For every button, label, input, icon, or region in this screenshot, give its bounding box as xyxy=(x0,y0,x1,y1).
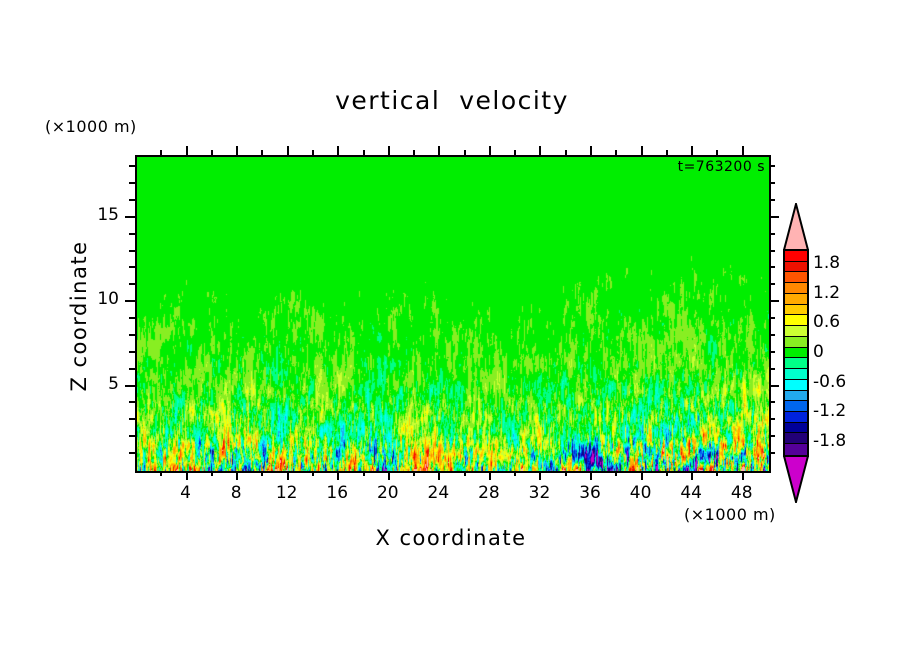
colorbar-under-arrow xyxy=(783,455,809,503)
y-axis-units-label: (×1000 m) xyxy=(45,117,137,136)
y-tick-right xyxy=(769,452,775,454)
x-tick-top xyxy=(742,146,744,155)
x-tick-label: 8 xyxy=(213,483,259,503)
colorbar-band xyxy=(785,337,807,348)
colorbar-band xyxy=(785,380,807,391)
x-tick-top xyxy=(363,150,365,155)
colorbar-tick-label: 1.2 xyxy=(813,283,840,303)
y-tick xyxy=(129,165,135,167)
y-tick xyxy=(129,418,135,420)
y-tick xyxy=(129,317,135,319)
x-tick-top xyxy=(464,150,466,155)
y-tick xyxy=(129,351,135,353)
x-tick xyxy=(438,471,440,480)
x-tick-top xyxy=(539,146,541,155)
y-tick xyxy=(129,452,135,454)
colorbar-over-arrow xyxy=(783,203,809,251)
y-tick xyxy=(129,199,135,201)
y-tick-right xyxy=(769,334,775,336)
y-tick-right xyxy=(769,165,775,167)
x-tick-top xyxy=(590,146,592,155)
y-tick-right xyxy=(769,199,775,201)
colorbar-band xyxy=(785,369,807,380)
x-tick-top xyxy=(236,146,238,155)
colorbar-band xyxy=(785,348,807,359)
x-axis-units-label: (×1000 m) xyxy=(684,505,776,524)
x-tick xyxy=(312,471,314,476)
x-tick-top xyxy=(565,150,567,155)
x-tick-label: 32 xyxy=(516,483,562,503)
y-tick-right xyxy=(769,266,775,268)
x-tick-top xyxy=(261,150,263,155)
x-tick xyxy=(337,471,339,480)
y-tick xyxy=(129,435,135,437)
colorbar-band xyxy=(785,262,807,273)
y-tick-right xyxy=(769,385,779,387)
y-tick-right xyxy=(769,283,775,285)
colorbar-band xyxy=(785,391,807,402)
colorbar-band xyxy=(785,283,807,294)
x-tick-top xyxy=(388,146,390,155)
x-tick xyxy=(363,471,365,476)
x-tick xyxy=(261,471,263,476)
x-tick-top xyxy=(160,150,162,155)
y-tick xyxy=(125,385,135,387)
y-tick xyxy=(129,250,135,252)
x-tick-label: 24 xyxy=(415,483,461,503)
x-tick xyxy=(211,471,213,476)
x-tick-top xyxy=(438,146,440,155)
x-tick-top xyxy=(287,146,289,155)
colorbar: 1.81.20.60-0.6-1.2-1.8 xyxy=(783,203,809,503)
x-tick-label: 16 xyxy=(314,483,360,503)
colorbar-band xyxy=(785,433,807,444)
y-tick xyxy=(129,334,135,336)
x-tick-top xyxy=(312,150,314,155)
x-tick-label: 40 xyxy=(618,483,664,503)
x-tick-top xyxy=(211,150,213,155)
y-tick-right xyxy=(769,216,779,218)
x-tick xyxy=(716,471,718,476)
x-tick xyxy=(236,471,238,480)
x-tick xyxy=(160,471,162,476)
y-tick-right xyxy=(769,435,775,437)
x-axis-title: X coordinate xyxy=(135,526,767,550)
x-tick xyxy=(691,471,693,480)
y-tick-right xyxy=(769,317,775,319)
y-tick-right xyxy=(769,401,775,403)
colorbar-band xyxy=(785,358,807,369)
x-tick-label: 28 xyxy=(466,483,512,503)
x-tick xyxy=(388,471,390,480)
colorbar-band xyxy=(785,444,807,455)
colorbar-band xyxy=(785,272,807,283)
x-tick xyxy=(666,471,668,476)
x-tick-label: 48 xyxy=(719,483,765,503)
x-tick xyxy=(464,471,466,476)
x-tick xyxy=(287,471,289,480)
x-tick xyxy=(565,471,567,476)
y-tick xyxy=(129,368,135,370)
x-tick xyxy=(186,471,188,480)
y-tick xyxy=(125,300,135,302)
colorbar-band xyxy=(785,401,807,412)
x-tick xyxy=(539,471,541,480)
y-tick-label: 10 xyxy=(79,289,119,309)
y-tick-right xyxy=(769,233,775,235)
x-tick-label: 20 xyxy=(365,483,411,503)
colorbar-band xyxy=(785,305,807,316)
x-tick xyxy=(514,471,516,476)
x-tick-top xyxy=(514,150,516,155)
y-tick-right xyxy=(769,182,775,184)
y-tick-right xyxy=(769,351,775,353)
x-tick-label: 12 xyxy=(264,483,310,503)
page-title: vertical velocity xyxy=(0,86,904,115)
x-tick-top xyxy=(666,150,668,155)
colorbar-tick-label: 0 xyxy=(813,342,824,362)
colorbar-band xyxy=(785,251,807,262)
x-tick xyxy=(742,471,744,480)
colorbar-tick-label: 0.6 xyxy=(813,312,840,332)
colorbar-tick-label: -0.6 xyxy=(813,372,846,392)
y-tick-right xyxy=(769,250,775,252)
velocity-field-heatmap xyxy=(137,157,769,471)
x-tick-top xyxy=(413,150,415,155)
colorbar-band xyxy=(785,423,807,434)
y-tick-right xyxy=(769,300,779,302)
colorbar-band xyxy=(785,315,807,326)
x-tick-top xyxy=(615,150,617,155)
x-tick-label: 44 xyxy=(668,483,714,503)
colorbar-band xyxy=(785,294,807,305)
time-annotation: t=763200 s xyxy=(678,159,765,175)
x-tick-top xyxy=(716,150,718,155)
colorbar-tick-label: -1.2 xyxy=(813,401,846,421)
x-tick xyxy=(413,471,415,476)
contour-plot-area: t=763200 s xyxy=(135,155,771,473)
y-tick-right xyxy=(769,418,775,420)
x-tick xyxy=(590,471,592,480)
x-tick xyxy=(615,471,617,476)
figure-canvas: vertical velocity (×1000 m) (×1000 m) X … xyxy=(0,0,904,654)
x-tick-top xyxy=(641,146,643,155)
x-tick-label: 4 xyxy=(163,483,209,503)
y-tick xyxy=(125,216,135,218)
colorbar-bands xyxy=(783,249,809,457)
y-tick xyxy=(129,233,135,235)
y-tick-label: 15 xyxy=(79,205,119,225)
colorbar-band xyxy=(785,412,807,423)
y-tick xyxy=(129,401,135,403)
colorbar-tick-label: 1.8 xyxy=(813,253,840,273)
y-tick-right xyxy=(769,368,775,370)
x-tick-top xyxy=(186,146,188,155)
colorbar-band xyxy=(785,326,807,337)
y-tick xyxy=(129,266,135,268)
x-tick-top xyxy=(691,146,693,155)
x-tick-top xyxy=(337,146,339,155)
y-tick xyxy=(129,182,135,184)
colorbar-tick-label: -1.8 xyxy=(813,431,846,451)
x-tick xyxy=(641,471,643,480)
x-tick-top xyxy=(489,146,491,155)
x-tick xyxy=(489,471,491,480)
x-tick-label: 36 xyxy=(567,483,613,503)
y-tick xyxy=(129,283,135,285)
y-tick-label: 5 xyxy=(79,374,119,394)
